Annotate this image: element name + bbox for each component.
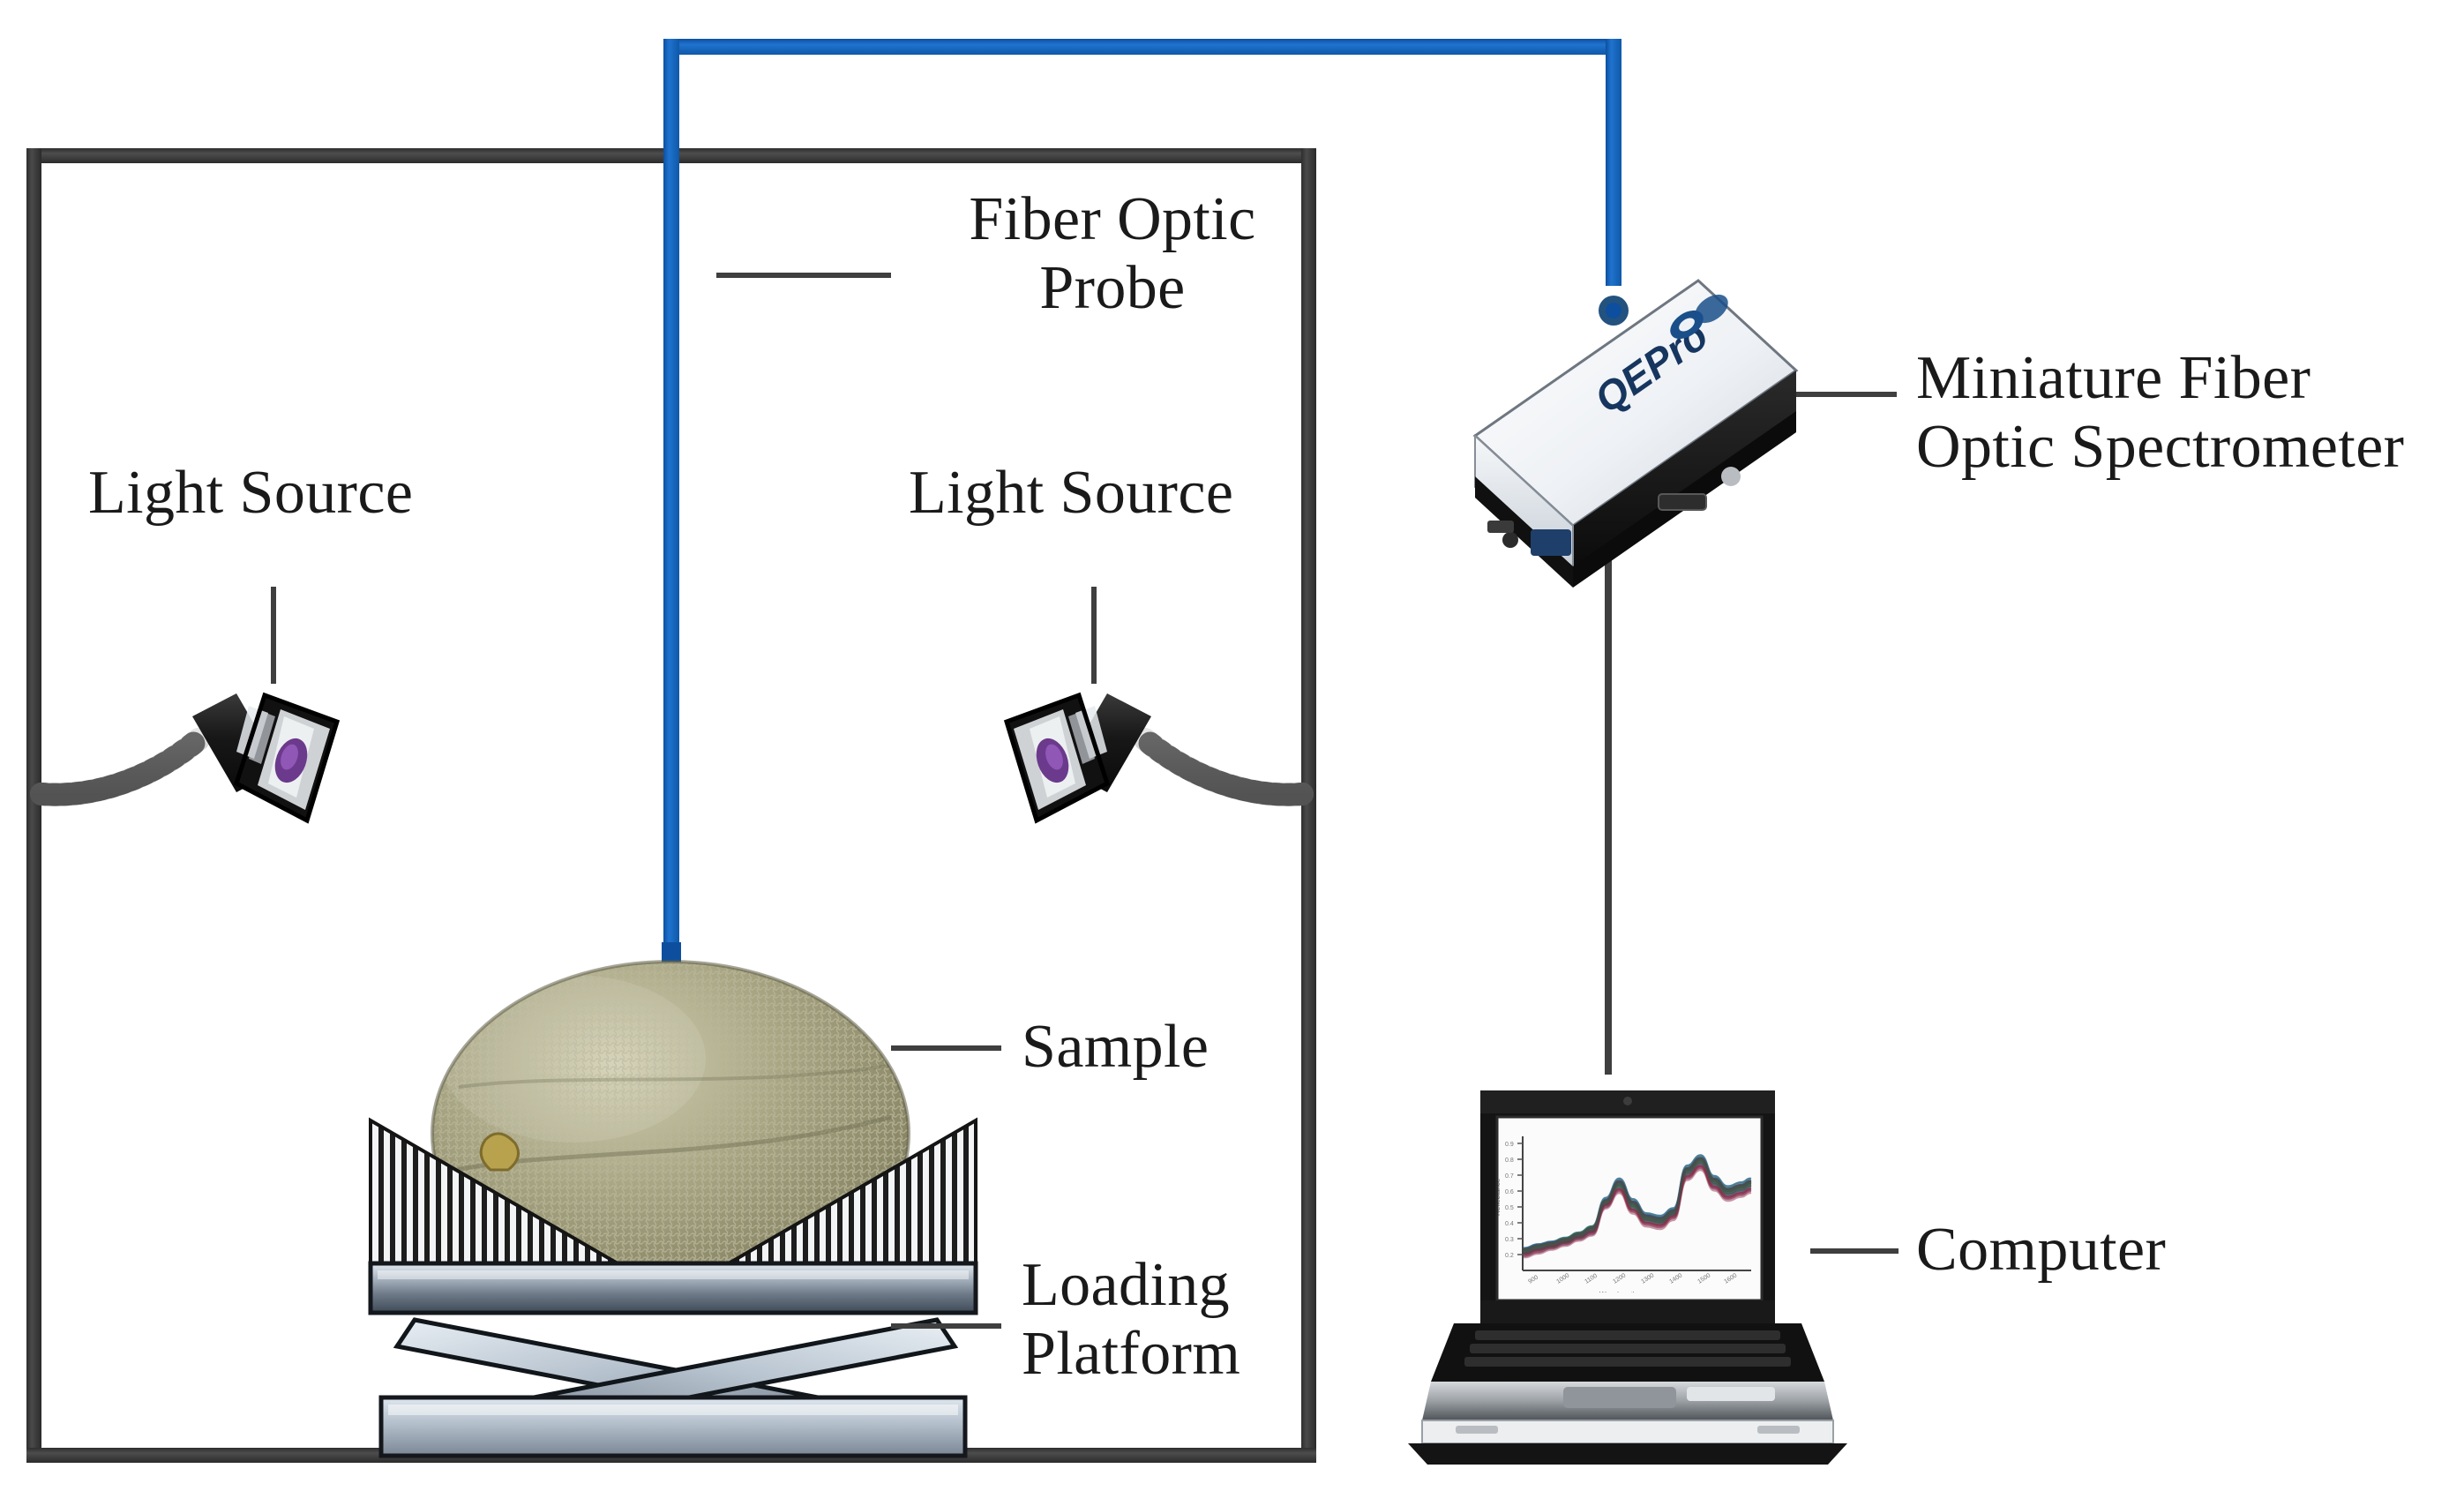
svg-text:0.7: 0.7 xyxy=(1505,1173,1514,1180)
label-computer: Computer xyxy=(1916,1216,2340,1285)
label-fiber-optic-probe: Fiber Optic Probe xyxy=(923,185,1302,324)
svg-text:0.6: 0.6 xyxy=(1505,1189,1514,1195)
svg-text:0.3: 0.3 xyxy=(1505,1237,1514,1243)
spectrometer-device: QEPro xyxy=(1475,281,1796,588)
svg-text:0.9: 0.9 xyxy=(1505,1142,1514,1148)
light-source-lamp-left xyxy=(41,693,337,820)
computer-laptop: 0.9 0.8 0.7 0.6 0.5 0.4 0.3 0.2 900 1000… xyxy=(1408,1090,1847,1465)
label-miniature-fiber-optic-spectrometer: Miniature Fiber Optic Spectrometer xyxy=(1916,344,2464,483)
label-light-source-left: Light Source xyxy=(88,459,547,528)
label-light-source-right: Light Source xyxy=(909,459,1367,528)
figure-canvas: QEPro xyxy=(0,0,2464,1506)
label-loading-platform: Loading Platform xyxy=(1022,1251,1392,1390)
label-sample: Sample xyxy=(1022,1013,1392,1082)
light-source-lamp-right xyxy=(1007,693,1302,820)
svg-text:0.2: 0.2 xyxy=(1505,1253,1514,1259)
svg-text:0.8: 0.8 xyxy=(1505,1158,1514,1164)
svg-text:0.5: 0.5 xyxy=(1505,1205,1514,1211)
svg-text:0.4: 0.4 xyxy=(1505,1221,1514,1227)
